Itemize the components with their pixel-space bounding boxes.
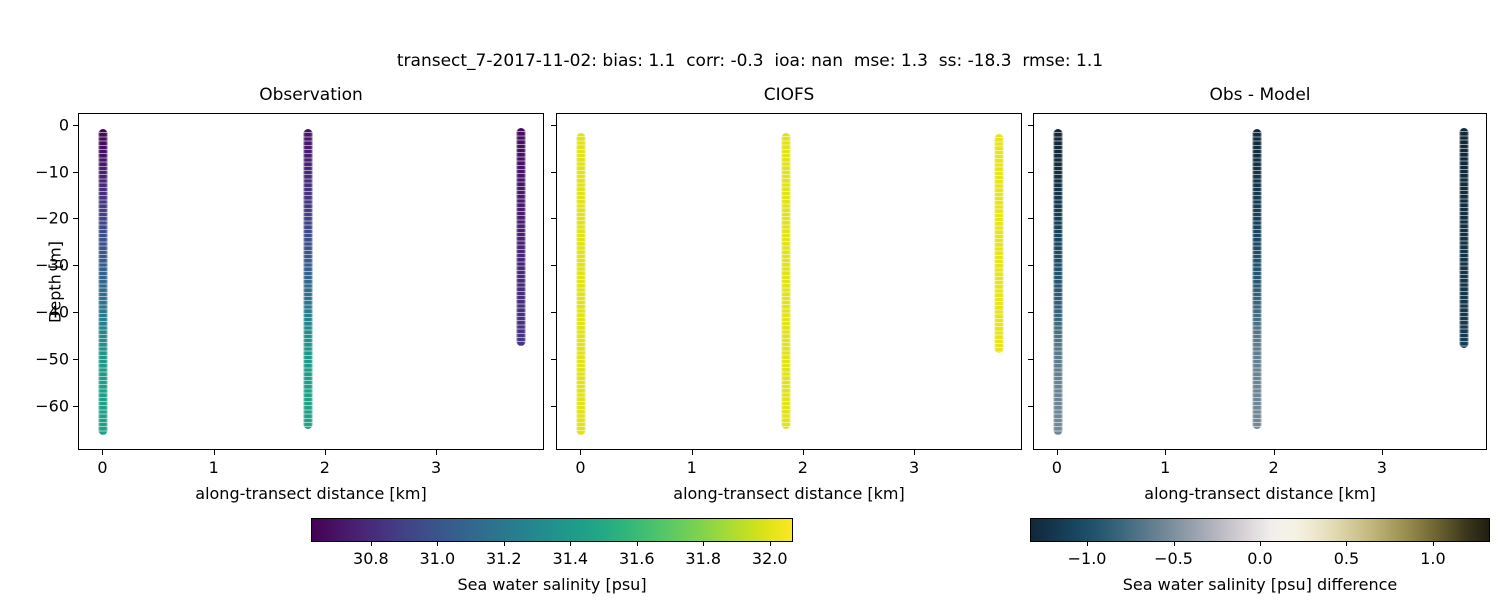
panel-title-observation: Observation <box>78 85 544 105</box>
y-tick <box>1028 406 1033 407</box>
colorbar-tick <box>1346 542 1347 546</box>
x-tick <box>914 450 915 455</box>
data-profile-column <box>99 129 108 435</box>
x-tick-label: 1 <box>209 458 219 477</box>
colorbar-tick <box>1087 542 1088 546</box>
y-tick <box>73 172 78 173</box>
x-tick <box>580 450 581 455</box>
x-tick <box>1274 450 1275 455</box>
axes-ciofs <box>556 113 1022 450</box>
x-tick <box>436 450 437 455</box>
data-profile-column <box>1460 128 1469 348</box>
y-tick <box>1028 218 1033 219</box>
colorbar-tick <box>1433 542 1434 546</box>
y-tick <box>551 218 556 219</box>
marker-edge-shade <box>1053 129 1062 435</box>
x-tick-label: 2 <box>798 458 808 477</box>
y-tick <box>1028 312 1033 313</box>
marker-edge-shade <box>577 133 586 435</box>
x-tick-label: 3 <box>909 458 919 477</box>
marker-edge-shade <box>1460 128 1469 348</box>
suptitle-line-1: transect_7-2017-11-02: bias: 1.1 corr: -… <box>0 50 1500 73</box>
y-tick-label: 0 <box>59 115 69 134</box>
y-tick <box>1028 359 1033 360</box>
colorbar-tick <box>504 542 505 546</box>
x-tick <box>1057 450 1058 455</box>
panel-ciofs: CIOFS along-transect distance [km] 0123 <box>556 113 1022 450</box>
x-tick <box>803 450 804 455</box>
x-axis-title-ciofs: along-transect distance [km] <box>556 484 1022 503</box>
panel-title-obs-minus-model: Obs - Model <box>1033 85 1487 105</box>
x-tick <box>1382 450 1383 455</box>
colorbar-tick <box>770 542 771 546</box>
y-tick <box>551 125 556 126</box>
colorbar-salinity-difference: Sea water salinity [psu] difference −1.0… <box>1030 518 1490 542</box>
colorbar-tick-label: 31.4 <box>552 549 588 568</box>
colorbar-tick-label: 0.0 <box>1247 549 1272 568</box>
y-tick <box>551 359 556 360</box>
y-tick <box>73 265 78 266</box>
y-tick <box>73 218 78 219</box>
x-tick-label: 2 <box>320 458 330 477</box>
colorbar-salinity: Sea water salinity [psu] 30.831.031.231.… <box>311 518 793 542</box>
marker-edge-shade <box>994 134 1003 353</box>
x-tick-label: 3 <box>1377 458 1387 477</box>
x-tick <box>1165 450 1166 455</box>
y-tick <box>73 312 78 313</box>
y-tick-label: −50 <box>35 349 69 368</box>
marker-edge-shade <box>516 128 525 346</box>
y-tick-label: −20 <box>35 209 69 228</box>
colorbar-tick-label: −1.0 <box>1068 549 1107 568</box>
data-profile-column <box>994 134 1003 353</box>
colorbar-tick-label: 31.6 <box>619 549 655 568</box>
x-tick-label: 1 <box>1160 458 1170 477</box>
axes-obs-minus-model <box>1033 113 1487 450</box>
y-tick-label: −10 <box>35 162 69 181</box>
y-tick <box>1028 265 1033 266</box>
colorbar-tick <box>637 542 638 546</box>
colorbar-tick <box>371 542 372 546</box>
colorbar-salinity-title: Sea water salinity [psu] <box>311 575 793 594</box>
colorbar-salinity-gradient <box>311 518 793 542</box>
panel-title-ciofs: CIOFS <box>556 85 1022 105</box>
y-tick <box>551 265 556 266</box>
x-axis-title-observation: along-transect distance [km] <box>78 484 544 503</box>
x-axis-title-obs-minus-model: along-transect distance [km] <box>1033 484 1487 503</box>
marker-edge-shade <box>99 129 108 435</box>
colorbar-tick-label: 1.0 <box>1420 549 1445 568</box>
data-profile-column <box>782 133 791 429</box>
colorbar-tick-label: 30.8 <box>353 549 389 568</box>
x-tick-label: 2 <box>1268 458 1278 477</box>
colorbar-tick-label: 31.0 <box>420 549 456 568</box>
x-tick <box>325 450 326 455</box>
colorbar-tick-label: 31.8 <box>685 549 721 568</box>
data-profile-column <box>516 128 525 346</box>
y-tick <box>551 172 556 173</box>
x-tick-label: 0 <box>1052 458 1062 477</box>
y-tick <box>73 359 78 360</box>
y-tick <box>73 125 78 126</box>
x-tick-label: 0 <box>97 458 107 477</box>
colorbar-salinity-difference-gradient <box>1030 518 1490 542</box>
colorbar-tick <box>437 542 438 546</box>
colorbar-salinity-difference-title: Sea water salinity [psu] difference <box>1030 575 1490 594</box>
colorbar-tick <box>1174 542 1175 546</box>
x-tick <box>102 450 103 455</box>
y-tick <box>73 406 78 407</box>
data-profile-column <box>577 133 586 435</box>
colorbar-tick-label: −0.5 <box>1154 549 1193 568</box>
y-tick-label: −60 <box>35 396 69 415</box>
colorbar-tick <box>1260 542 1261 546</box>
data-profile-column <box>1053 129 1062 435</box>
y-tick-label: −40 <box>35 302 69 321</box>
y-tick <box>551 406 556 407</box>
axes-observation <box>78 113 544 450</box>
colorbar-tick-label: 32.0 <box>752 549 788 568</box>
y-tick <box>551 312 556 313</box>
panel-observation: Observation Depth [m] along-transect dis… <box>78 113 544 450</box>
figure: transect_7-2017-11-02: bias: 1.1 corr: -… <box>0 0 1500 600</box>
marker-edge-shade <box>782 133 791 429</box>
data-profile-column <box>304 129 313 429</box>
x-tick <box>692 450 693 455</box>
marker-edge-shade <box>304 129 313 429</box>
colorbar-tick <box>570 542 571 546</box>
x-tick-label: 1 <box>687 458 697 477</box>
panel-obs-minus-model: Obs - Model along-transect distance [km]… <box>1033 113 1487 450</box>
x-tick-label: 0 <box>575 458 585 477</box>
x-tick <box>214 450 215 455</box>
y-tick <box>1028 125 1033 126</box>
y-tick-label: −30 <box>35 256 69 275</box>
colorbar-tick-label: 0.5 <box>1334 549 1359 568</box>
x-tick-label: 3 <box>431 458 441 477</box>
colorbar-tick-label: 31.2 <box>486 549 522 568</box>
data-profile-column <box>1253 129 1262 429</box>
colorbar-tick <box>703 542 704 546</box>
marker-edge-shade <box>1253 129 1262 429</box>
y-tick <box>1028 172 1033 173</box>
